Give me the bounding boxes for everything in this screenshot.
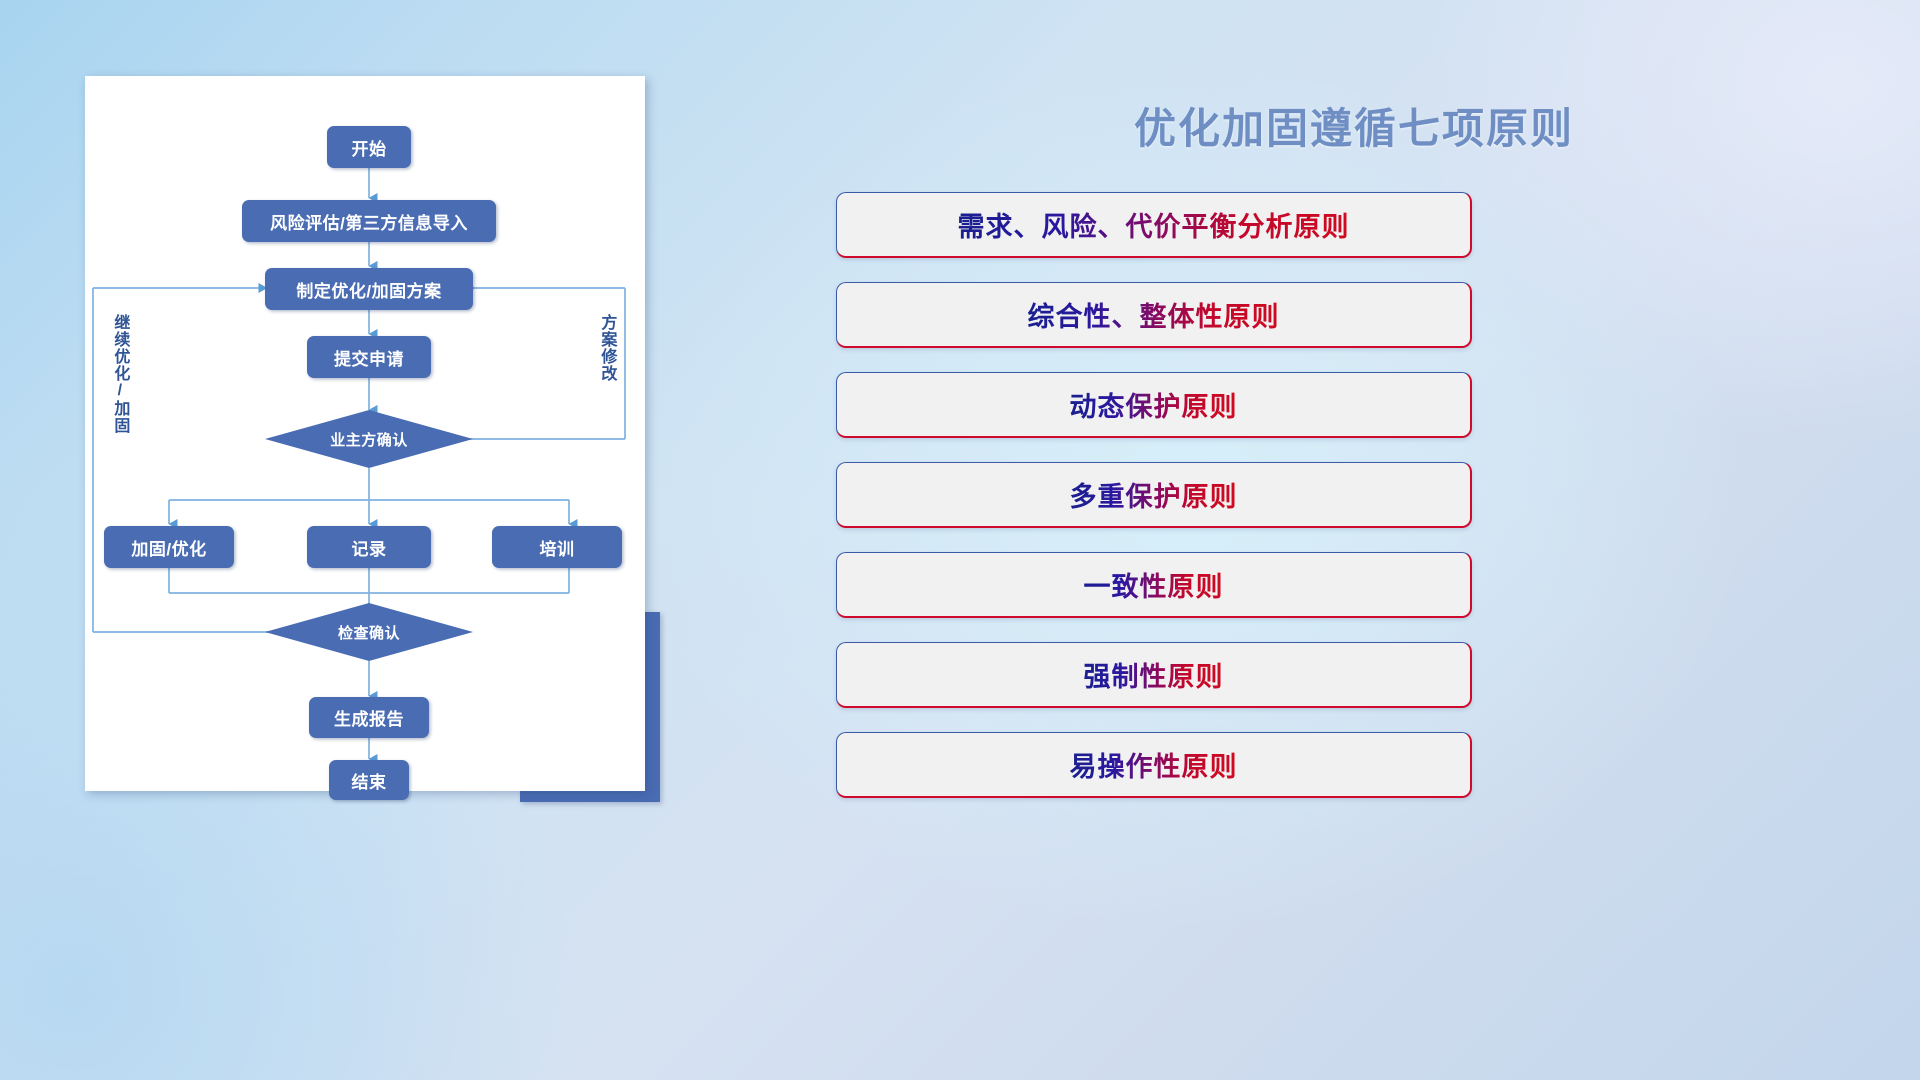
flow-node-label: 提交申请	[334, 345, 404, 370]
flow-node-label: 结束	[352, 768, 387, 793]
flow-node-label: 业主方确认	[330, 429, 408, 450]
flow-node-training[interactable]: 培训	[492, 526, 622, 568]
principle-list: 需求、风险、代价平衡分析原则 综合性、整体性原则 动态保护原则 多重保护原则 一…	[836, 192, 1472, 798]
principle-label: 一致性原则	[1084, 565, 1224, 604]
principle-card[interactable]: 动态保护原则	[836, 372, 1472, 438]
flow-node-label: 生成报告	[334, 705, 404, 730]
principle-label: 多重保护原则	[1070, 475, 1238, 514]
flowchart-card: 开始 风险评估/第三方信息导入 制定优化/加固方案 提交申请 业主方确认 加固/…	[85, 76, 645, 791]
principle-card[interactable]: 强制性原则	[836, 642, 1472, 708]
flow-node-label: 制定优化/加固方案	[296, 277, 441, 302]
flow-edge-label-right-loop: 方案修改	[598, 314, 614, 382]
principle-card[interactable]: 需求、风险、代价平衡分析原则	[836, 192, 1472, 258]
flow-node-generate-report[interactable]: 生成报告	[309, 697, 429, 738]
flow-node-start[interactable]: 开始	[327, 126, 411, 168]
principle-card[interactable]: 易操作性原则	[836, 732, 1472, 798]
flow-node-end[interactable]: 结束	[329, 760, 409, 800]
flow-node-record[interactable]: 记录	[307, 526, 431, 568]
principle-card[interactable]: 综合性、整体性原则	[836, 282, 1472, 348]
principle-label: 需求、风险、代价平衡分析原则	[958, 205, 1350, 244]
flow-node-label: 开始	[352, 135, 387, 160]
principle-label: 强制性原则	[1084, 655, 1224, 694]
principle-label: 综合性、整体性原则	[1028, 295, 1280, 334]
flow-node-label: 培训	[540, 535, 575, 560]
principle-label: 动态保护原则	[1070, 385, 1238, 424]
panel-title: 优化加固遵循七项原则	[1134, 95, 1574, 156]
flow-node-risk-assessment[interactable]: 风险评估/第三方信息导入	[242, 200, 496, 242]
flow-node-label: 检查确认	[338, 622, 400, 643]
principle-card[interactable]: 多重保护原则	[836, 462, 1472, 528]
flow-node-plan[interactable]: 制定优化/加固方案	[265, 268, 473, 310]
flow-node-label: 记录	[352, 535, 387, 560]
flow-node-label: 风险评估/第三方信息导入	[270, 209, 468, 234]
flow-node-label: 加固/优化	[131, 535, 206, 560]
flow-edge-label-left-loop: 继续优化/加固	[111, 314, 127, 434]
flow-node-reinforce-optimize[interactable]: 加固/优化	[104, 526, 234, 568]
principle-card[interactable]: 一致性原则	[836, 552, 1472, 618]
principle-label: 易操作性原则	[1070, 745, 1238, 784]
flow-node-submit-application[interactable]: 提交申请	[307, 336, 431, 378]
